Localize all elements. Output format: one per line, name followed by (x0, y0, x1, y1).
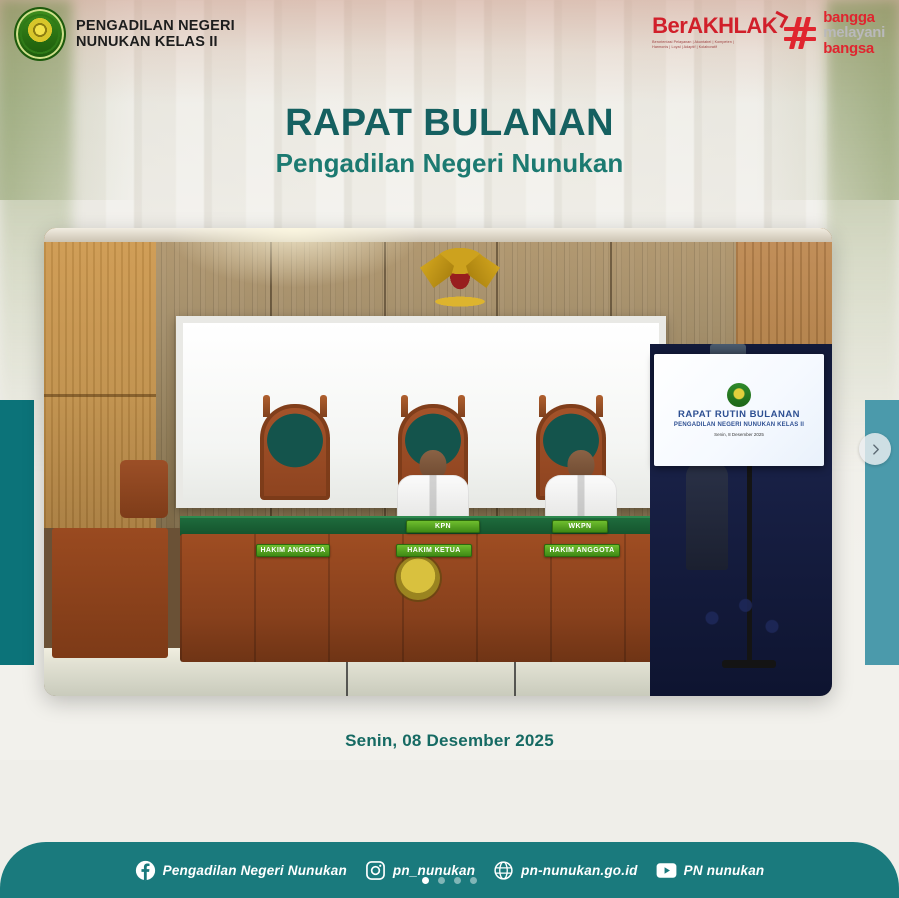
carved-chair-left (260, 404, 330, 500)
monitor-stand-base (722, 660, 776, 668)
poster-title: RAPAT BULANAN (0, 104, 899, 144)
bangga-line-1: bangga (823, 10, 885, 25)
bangga-line-2: melayani (823, 25, 885, 40)
carousel-next-button[interactable] (859, 433, 891, 465)
nameplate-wkpn: WKPN (552, 520, 608, 533)
monitor-area: RAPAT RUTIN BULANAN PENGADILAN NEGERI NU… (650, 344, 832, 696)
carousel-dot-3[interactable] (454, 877, 461, 884)
institution-line-2: NUNUKAN KELAS II (76, 34, 235, 50)
desk-left-block (52, 528, 168, 658)
berakhlak-logo: BerAKHLAK Berorientasi Pelayanan | Akunt… (652, 15, 777, 51)
monitor-presentation-slide: RAPAT RUTIN BULANAN PENGADILAN NEGERI NU… (654, 354, 824, 466)
slide-seal-icon (727, 383, 751, 407)
floor-cable-2 (514, 662, 516, 696)
nameplate-kpn: KPN (406, 520, 480, 533)
poster-subtitle: Pengadilan Negeri Nunukan (0, 148, 899, 179)
meeting-photo: KPN WKPN HAKIM ANGGOTA HAKIM KETUA HAKIM… (44, 228, 832, 696)
side-chair (120, 460, 168, 518)
hash-symbol-icon (785, 18, 815, 48)
slide-date: Senin, 8 Desember 2025 (714, 432, 764, 437)
nameplate-left: HAKIM ANGGOTA (256, 544, 330, 557)
akhlak-logo-group: BerAKHLAK Berorientasi Pelayanan | Akunt… (652, 10, 885, 56)
carousel-dot-2[interactable] (438, 877, 445, 884)
floor-cable-1 (346, 662, 348, 696)
bangga-line-3: bangsa (823, 41, 885, 56)
garuda-pancasila-emblem-icon (416, 240, 504, 310)
supreme-court-seal-icon (14, 7, 66, 61)
standing-attendee (686, 462, 728, 570)
footer-label-instagram: pn_nunukan (393, 863, 475, 878)
footer-label-facebook: Pengadilan Negeri Nunukan (163, 863, 347, 878)
institution-name: PENGADILAN NEGERI NUNUKAN KELAS II (76, 18, 235, 50)
nameplate-right: HAKIM ANGGOTA (544, 544, 620, 557)
cable-bundle (688, 590, 808, 660)
speaker-left (396, 450, 470, 522)
social-footer: Pengadilan Negeri Nunukan pn_nunukan pn-… (0, 842, 899, 898)
carousel-dot-4[interactable] (470, 877, 477, 884)
institution-line-1: PENGADILAN NEGERI (76, 18, 235, 34)
ceiling-light-glow (164, 228, 424, 288)
poster-canvas: PENGADILAN NEGERI NUNUKAN KELAS II BerAK… (0, 0, 899, 898)
title-block: RAPAT BULANAN Pengadilan Negeri Nunukan (0, 104, 899, 179)
chevron-right-icon (869, 443, 882, 456)
footer-label-youtube: PN nunukan (684, 863, 765, 878)
accent-bar-left (0, 400, 34, 665)
speaker-right (544, 450, 618, 522)
poster-header: PENGADILAN NEGERI NUNUKAN KELAS II BerAK… (0, 0, 899, 72)
berakhlak-tagline: Berorientasi Pelayanan | Akuntabel | Kom… (652, 40, 748, 51)
slide-title: RAPAT RUTIN BULANAN (678, 410, 800, 420)
bangga-melayani-bangsa-logo: bangga melayani bangsa (823, 10, 885, 56)
berakhlak-wordmark: BerAKHLAK (652, 15, 777, 37)
desk-emblem-medallion (396, 556, 440, 600)
carousel-dots[interactable] (0, 877, 899, 884)
brand-block: PENGADILAN NEGERI NUNUKAN KELAS II (14, 7, 235, 61)
slide-subtitle: PENGADILAN NEGERI NUNUKAN KELAS II (674, 422, 804, 428)
footer-label-website: pn-nunukan.go.id (521, 863, 637, 878)
event-date: Senin, 08 Desember 2025 (0, 731, 899, 751)
carousel-dot-1[interactable] (422, 877, 429, 884)
nameplate-center: HAKIM KETUA (396, 544, 472, 557)
